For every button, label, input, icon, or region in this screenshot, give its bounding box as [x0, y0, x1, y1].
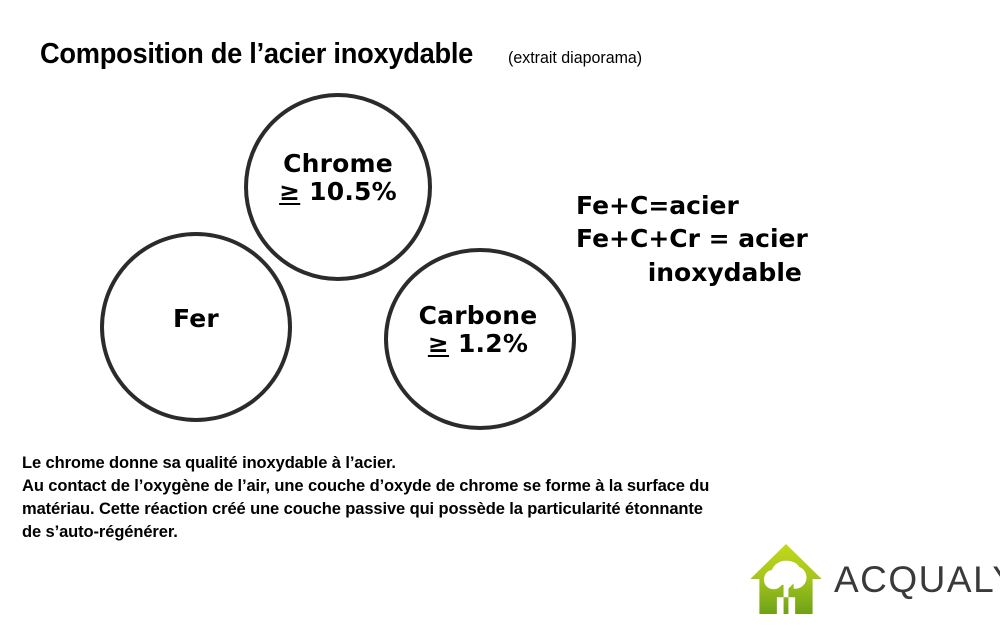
description-line-3: matériau. Cette réaction créé une couche… [22, 498, 952, 521]
slide-canvas: Composition de l’acier inoxydable (extra… [0, 0, 1000, 625]
circle-chrome-name: Chrome [244, 150, 432, 178]
circle-carbone-number: 1.2% [458, 329, 528, 358]
circle-chrome-label: Chrome ≥ 10.5% [244, 150, 432, 206]
circle-carbone-name: Carbone [382, 302, 574, 330]
circle-chrome-value: ≥ 10.5% [244, 178, 432, 206]
equation-block: Fe+C=acier Fe+C+Cr = acier inoxydable [576, 189, 808, 289]
equation-line-2: Fe+C+Cr = acier [576, 222, 808, 255]
equation-line-1: Fe+C=acier [576, 189, 808, 222]
circle-carbone-label: Carbone ≥ 1.2% [382, 302, 574, 358]
circle-chrome-number: 10.5% [309, 177, 397, 206]
circle-fer-label: Fer [100, 305, 292, 333]
acqualys-logo: ACQUALYS [748, 540, 993, 618]
page-title: Composition de l’acier inoxydable (extra… [40, 38, 650, 71]
circle-carbone-value: ≥ 1.2% [382, 330, 574, 358]
greater-equal-symbol-carbone: ≥ [428, 329, 449, 358]
description-paragraph: Le chrome donne sa qualité inoxydable à … [22, 452, 952, 544]
house-with-tree-icon [748, 541, 824, 617]
circle-fer-name: Fer [100, 305, 292, 333]
acqualys-wordmark: ACQUALYS [834, 561, 1000, 598]
title-subtitle-text: (extrait diaporama) [508, 48, 642, 68]
greater-equal-symbol-chrome: ≥ [279, 177, 300, 206]
title-main-text: Composition de l’acier inoxydable [40, 38, 473, 71]
description-line-1: Le chrome donne sa qualité inoxydable à … [22, 452, 952, 475]
equation-line-3: inoxydable [576, 256, 808, 289]
description-line-2: Au contact de l’oxygène de l’air, une co… [22, 475, 952, 498]
